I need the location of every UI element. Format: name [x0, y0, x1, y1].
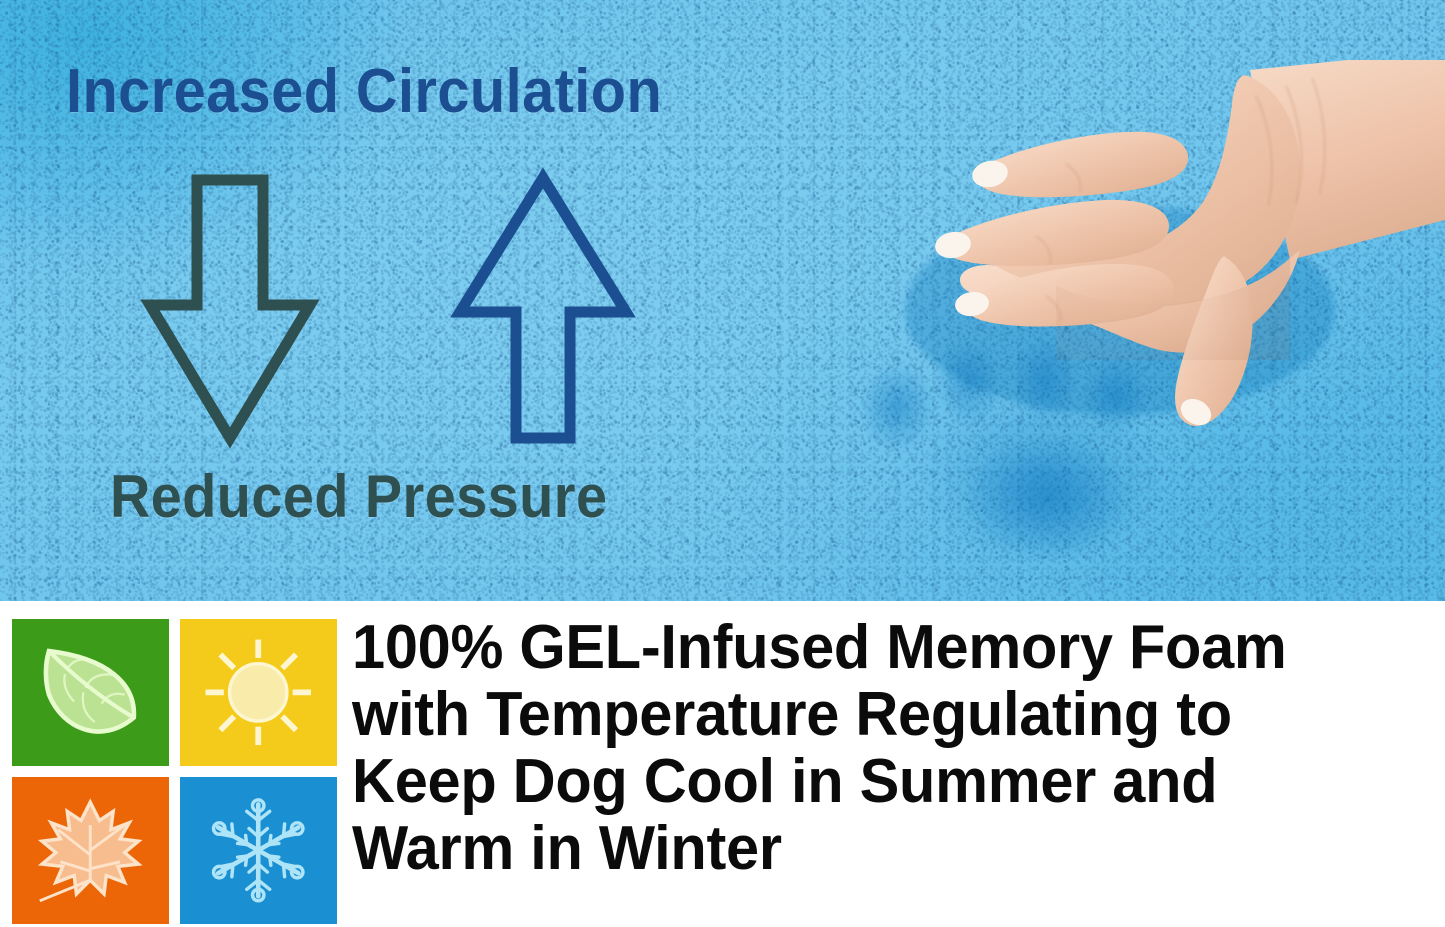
tagline-line-3: Keep Dog Cool in Summer and: [352, 749, 1394, 816]
tagline-line-4: Warm in Winter: [352, 816, 1394, 883]
leaf-icon: [29, 635, 151, 750]
icon-tile-winter: [180, 777, 337, 924]
icon-tile-spring: [12, 619, 169, 766]
icon-tile-autumn: [12, 777, 169, 924]
icon-tile-summer: [180, 619, 337, 766]
caption-increased-circulation: Increased Circulation: [66, 56, 662, 127]
memory-foam-photo: Increased Circulation Reduced Pressure: [0, 0, 1445, 601]
caption-reduced-pressure: Reduced Pressure: [110, 462, 607, 531]
tagline-line-2: with Temperature Regulating to: [352, 682, 1394, 749]
arrow-down-icon: [140, 170, 320, 452]
season-icon-grid: [12, 619, 337, 919]
feature-callout-bar: 100% GEL-Infused Memory Foam with Temper…: [0, 601, 1445, 927]
hand-photo: [820, 60, 1445, 480]
tagline-line-1: 100% GEL-Infused Memory Foam: [352, 615, 1394, 682]
sun-icon: [197, 635, 319, 750]
product-tagline: 100% GEL-Infused Memory Foam with Temper…: [352, 615, 1394, 883]
snowflake-icon: [197, 793, 319, 908]
product-feature-graphic: Increased Circulation Reduced Pressure: [0, 0, 1445, 927]
arrow-up-icon: [448, 166, 638, 448]
maple-leaf-icon: [29, 793, 151, 908]
